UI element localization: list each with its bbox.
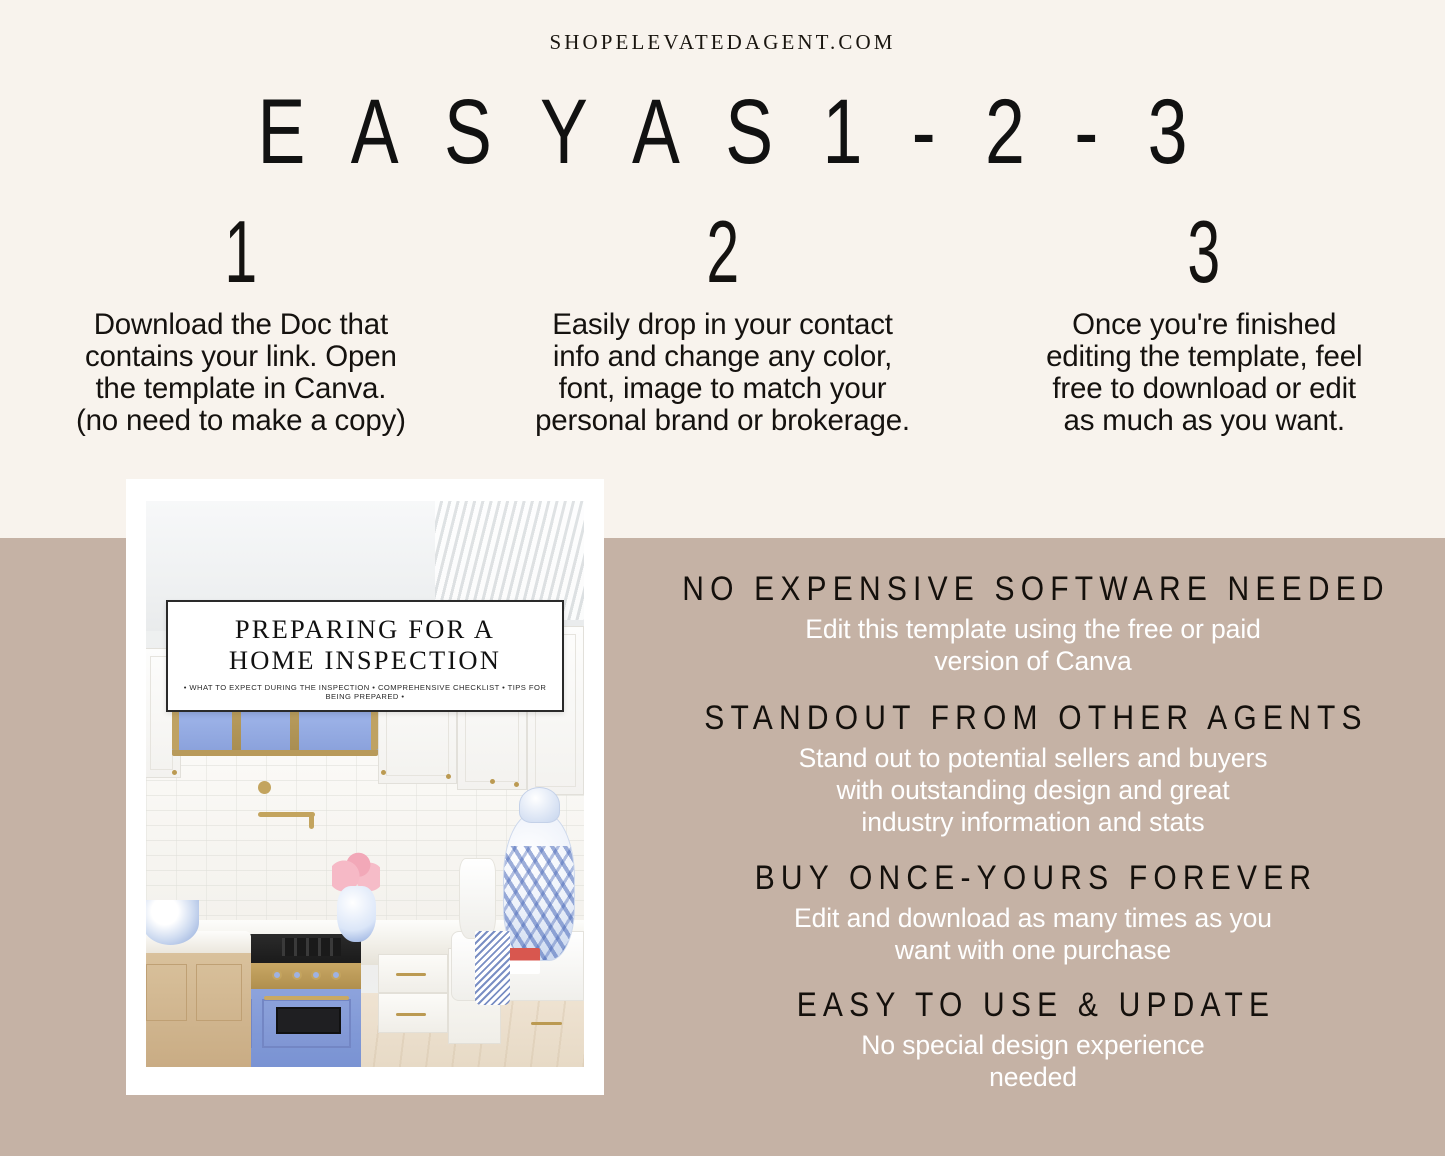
feature-title: EASY TO USE & UPDATE (624, 986, 1442, 1025)
cover-title-plaque: PREPARING FOR A HOME INSPECTION • WHAT T… (166, 600, 565, 712)
step-item: 1 Download the Doc that contains your li… (0, 205, 482, 437)
feature-body: No special design experience needed (624, 1029, 1442, 1093)
feature-list: NO EXPENSIVE SOFTWARE NEEDED Edit this t… (624, 570, 1442, 1093)
faucet-arm (258, 812, 315, 817)
feature-title: STANDOUT FROM OTHER AGENTS (624, 699, 1442, 738)
step-item: 2 Easily drop in your contact info and c… (482, 205, 964, 437)
site-url: SHOPELEVATEDAGENT.COM (0, 30, 1445, 55)
drawer-pull (396, 973, 427, 976)
range-dial (272, 970, 282, 980)
blue-dish-towel (475, 931, 510, 1005)
step-number: 3 (1021, 205, 1386, 300)
feature-body: Edit this template using the free or pai… (624, 613, 1442, 677)
step-description: Easily drop in your contact info and cha… (500, 309, 946, 437)
faucet-spout (309, 814, 314, 829)
white-vase (459, 858, 496, 939)
step-description: Download the Doc that contains your link… (18, 309, 464, 437)
island-cabinetry (146, 953, 251, 1067)
step-item: 3 Once you're finished editing the templ… (963, 205, 1445, 437)
feature-body: Edit and download as many times as you w… (624, 902, 1442, 966)
product-mockup-card: PREPARING FOR A HOME INSPECTION • WHAT T… (126, 479, 604, 1095)
feature-title: NO EXPENSIVE SOFTWARE NEEDED (624, 570, 1442, 609)
pot-filler-faucet (258, 778, 315, 829)
step-number: 2 (540, 205, 905, 300)
steps-row: 1 Download the Doc that contains your li… (0, 205, 1445, 437)
faucet-base (258, 781, 271, 794)
page-title: E A S Y A S 1 - 2 - 3 (58, 78, 1387, 185)
cover-subtitle: • WHAT TO EXPECT DURING THE INSPECTION •… (176, 683, 555, 701)
drawer-pull (396, 1013, 427, 1016)
island-panel (196, 964, 242, 1021)
step-number: 1 (58, 205, 423, 300)
cabinet-knob (446, 774, 451, 779)
drawer-pull (531, 1022, 562, 1025)
step-description: Once you're finished editing the templat… (981, 309, 1427, 437)
feature-title: BUY ONCE-YOURS FOREVER (624, 859, 1442, 898)
kitchen-island (146, 931, 251, 1067)
feature-item: STANDOUT FROM OTHER AGENTS Stand out to … (624, 699, 1442, 838)
ginger-jar-lid (519, 787, 560, 823)
promo-graphic: SHOPELEVATEDAGENT.COM E A S Y A S 1 - 2 … (0, 0, 1445, 1156)
feature-item: BUY ONCE-YOURS FOREVER Edit and download… (624, 859, 1442, 966)
oven-door-right (262, 999, 351, 1048)
blue-white-vase (337, 886, 376, 943)
range-dial (292, 970, 302, 980)
cover-title: PREPARING FOR A HOME INSPECTION (176, 614, 555, 676)
cabinet-knob (514, 782, 519, 787)
range-dial (311, 970, 321, 980)
kitchen-photo: PREPARING FOR A HOME INSPECTION • WHAT T… (146, 501, 584, 1067)
feature-item: NO EXPENSIVE SOFTWARE NEEDED Edit this t… (624, 570, 1442, 677)
island-panel (146, 964, 187, 1021)
range-dial (331, 970, 341, 980)
blue-ginger-jar (503, 812, 575, 961)
feature-item: EASY TO USE & UPDATE No special design e… (624, 986, 1442, 1093)
oven-handle (264, 996, 349, 1000)
feature-body: Stand out to potential sellers and buyer… (624, 742, 1442, 838)
burner-grate (282, 938, 341, 956)
oven-window (276, 1007, 341, 1034)
